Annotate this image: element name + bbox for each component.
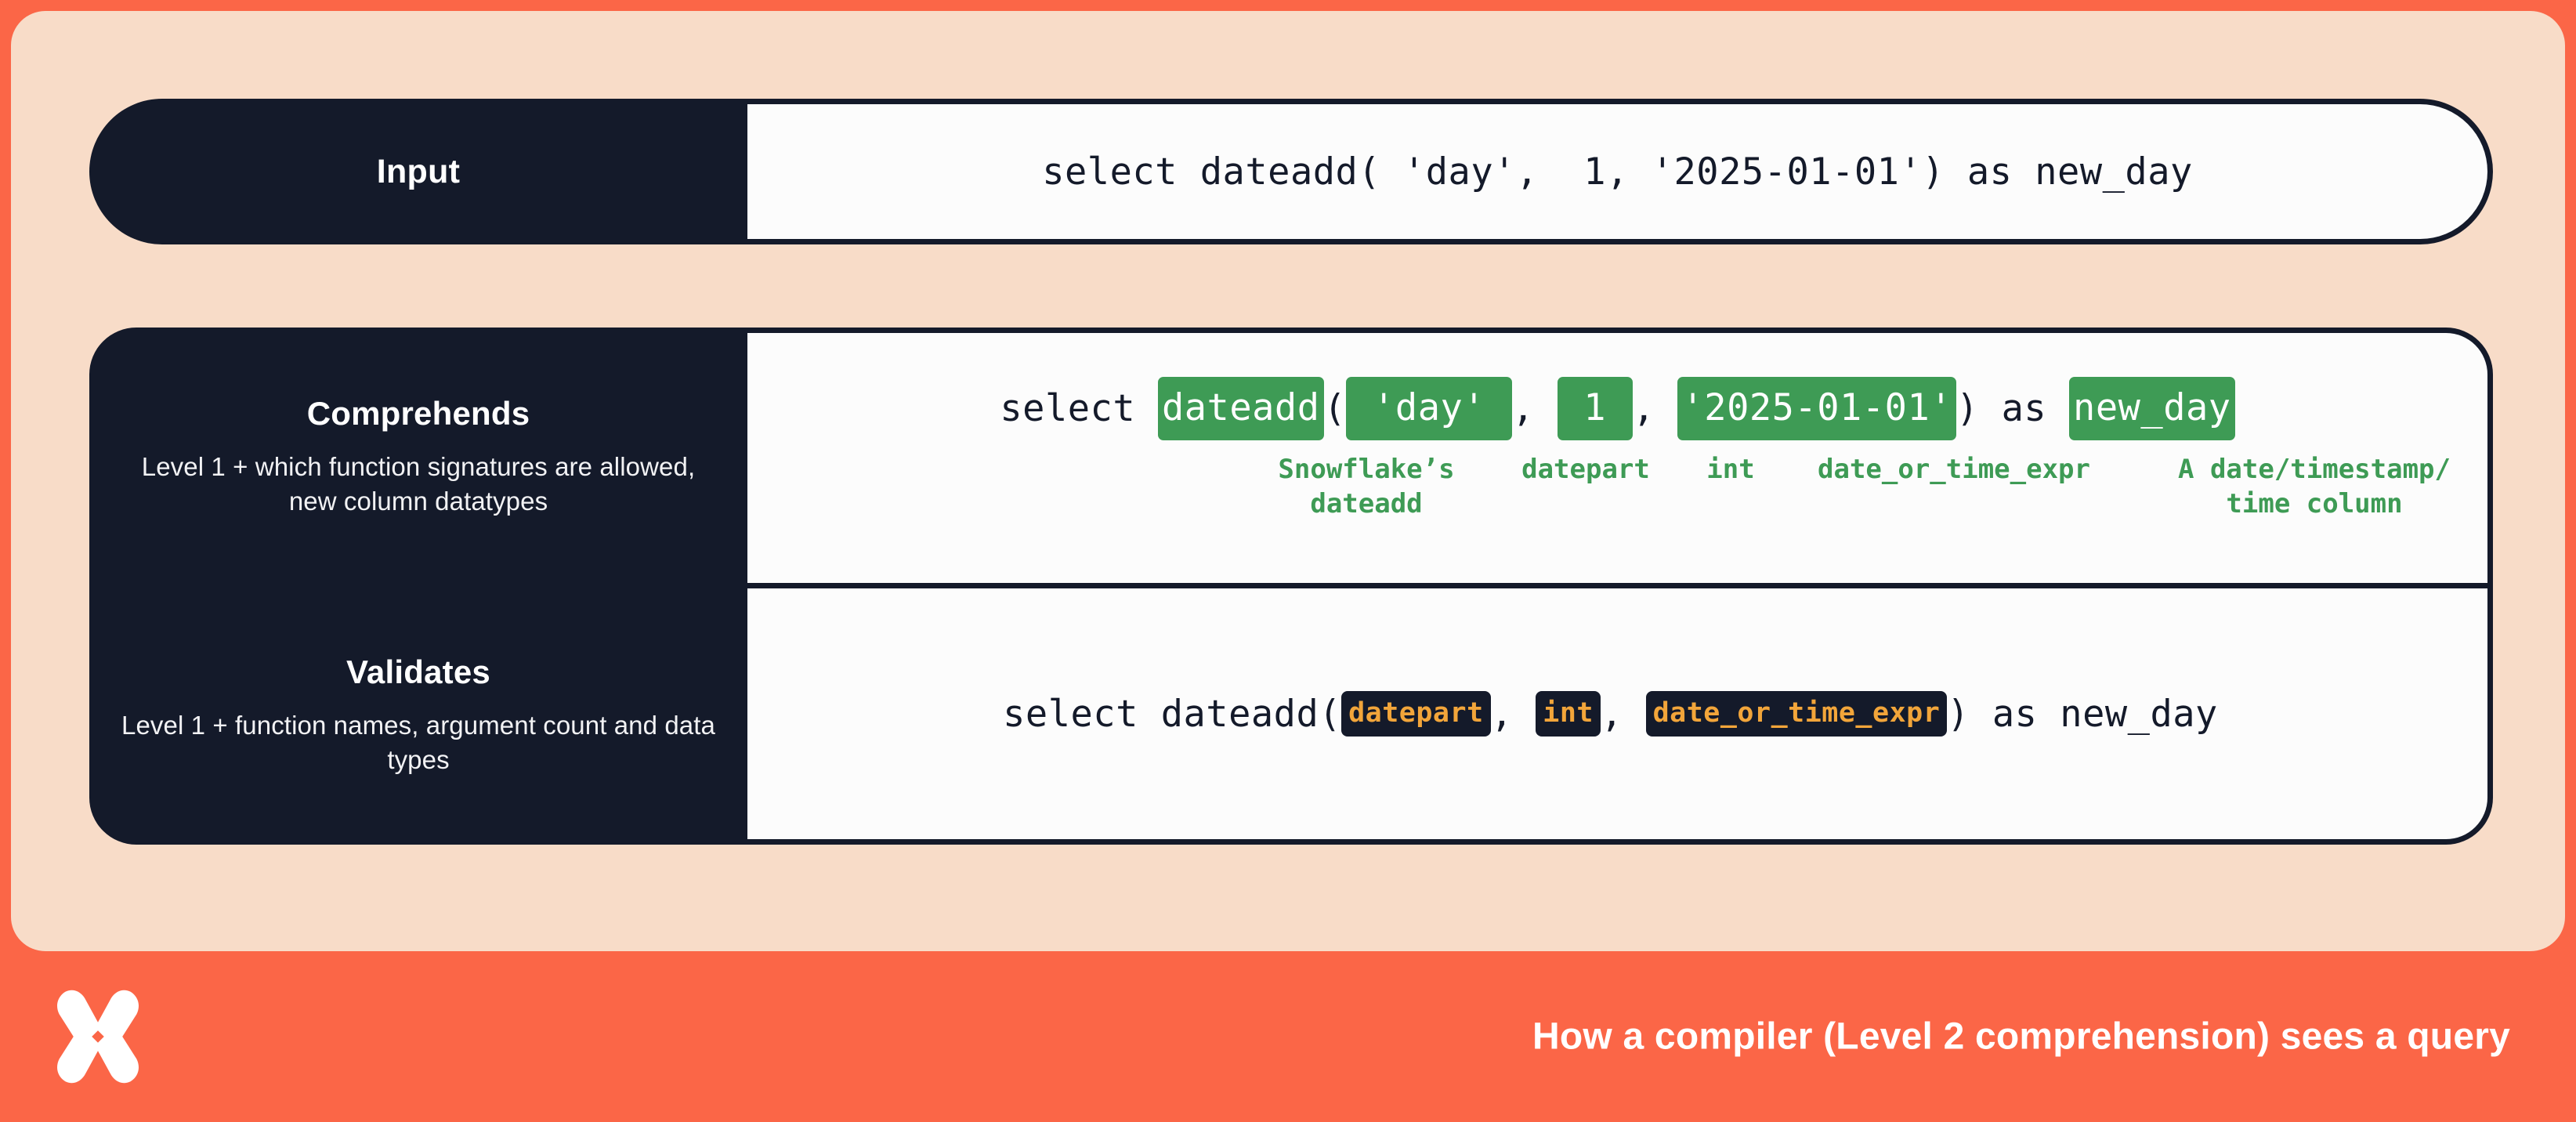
validates-title: Validates	[346, 653, 490, 691]
code-token-plain: (	[1324, 387, 1347, 430]
comprehends-subtitle: Level 1 + which function signatures are …	[116, 450, 721, 519]
code-annotation-label: A date/timestamp/ time column	[2134, 453, 2495, 521]
code-annotation-label: date_or_time_expr	[1789, 453, 2118, 487]
code-token-highlight-green: new_day	[2069, 377, 2235, 440]
code-token-plain: ,	[1633, 387, 1678, 430]
validates-label-cell: Validates Level 1 + function names, argu…	[89, 586, 747, 845]
code-token-highlight-dark: datepart	[1341, 691, 1491, 737]
footer-caption: How a compiler (Level 2 comprehension) s…	[1532, 1015, 2510, 1059]
code-token-highlight-green: 1	[1558, 377, 1633, 440]
code-token-plain: select dateadd(	[1003, 693, 1341, 736]
comprehends-annotation-row: Snowflake’s dateadddatepartintdate_or_ti…	[747, 453, 2487, 539]
code-token-highlight-dark: date_or_time_expr	[1646, 691, 1948, 737]
input-row-label: Input	[89, 99, 747, 244]
comprehends-label-cell: Comprehends Level 1 + which function sig…	[89, 328, 747, 586]
code-annotation-label: Snowflake’s dateadd	[1249, 453, 1484, 521]
comprehends-code-cell: select dateadd( 'day' , 1 , '2025-01-01'…	[747, 328, 2493, 586]
validates-code-line: select dateadd(datepart, int, date_or_ti…	[1003, 691, 2218, 737]
input-card: Input select dateadd( 'day', 1, '2025-01…	[89, 99, 2493, 244]
table-row: Comprehends Level 1 + which function sig…	[89, 328, 2493, 586]
code-token-highlight-green: '2025-01-01'	[1677, 377, 1956, 440]
levels-table-card: Comprehends Level 1 + which function sig…	[89, 328, 2493, 845]
screenshot-root: Input select dateadd( 'day', 1, '2025-01…	[0, 0, 2576, 1122]
validates-code-cell: select dateadd(datepart, int, date_or_ti…	[747, 586, 2493, 845]
code-annotation-label: int	[1684, 453, 1778, 487]
code-token-plain: ) as	[1956, 387, 2069, 430]
table-row: Validates Level 1 + function names, argu…	[89, 586, 2493, 845]
comprehends-code-line: select dateadd( 'day' , 1 , '2025-01-01'…	[1000, 377, 2234, 440]
code-token-highlight-dark: int	[1536, 691, 1601, 737]
code-token-highlight-green: 'day'	[1346, 377, 1512, 440]
code-token-plain: select	[1000, 387, 1158, 430]
code-token-plain: ) as new_day	[1947, 693, 2218, 736]
code-token-plain: ,	[1512, 387, 1558, 430]
code-annotation-label: datepart	[1500, 453, 1672, 487]
input-row-code: select dateadd( 'day', 1, '2025-01-01') …	[747, 99, 2493, 244]
comprehends-title: Comprehends	[307, 395, 530, 433]
footer-bar: How a compiler (Level 2 comprehension) s…	[0, 951, 2576, 1122]
code-token-plain: ,	[1491, 693, 1536, 736]
code-token-plain: ,	[1601, 693, 1646, 736]
content-panel: Input select dateadd( 'day', 1, '2025-01…	[11, 11, 2565, 951]
code-token-highlight-green: dateadd	[1158, 377, 1324, 440]
brand-x-logo-icon	[47, 986, 149, 1088]
validates-subtitle: Level 1 + function names, argument count…	[116, 708, 721, 777]
